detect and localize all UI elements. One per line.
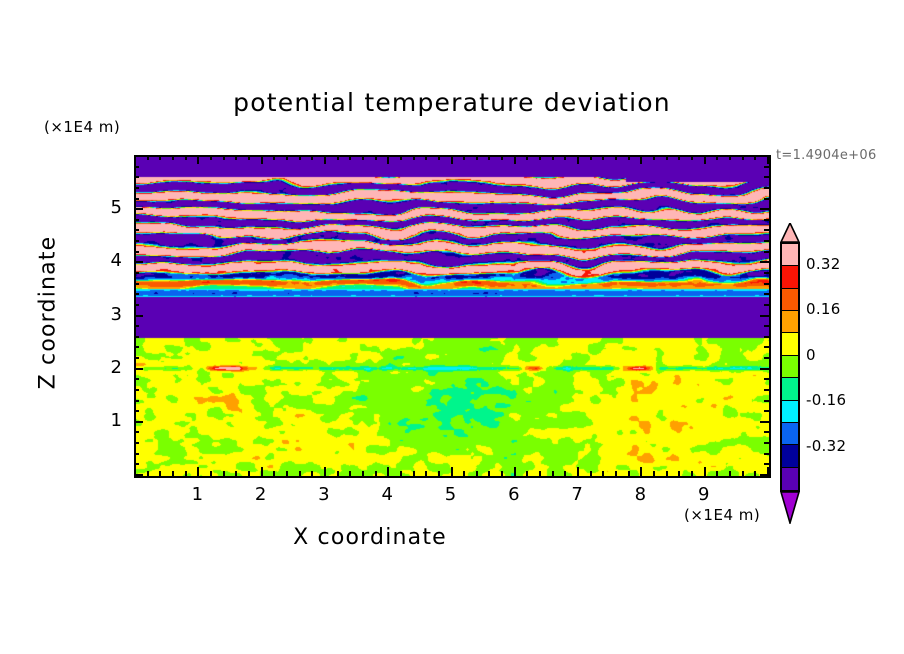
- y-tick-label: 4: [88, 250, 122, 271]
- x-axis-unit-label: (×1E4 m): [684, 506, 760, 524]
- y-tick-label: 1: [88, 410, 122, 431]
- page-title: potential temperature deviation: [0, 88, 904, 117]
- colorbar-band: [782, 468, 798, 490]
- x-tick-label: 3: [304, 484, 344, 505]
- x-tick-label: 8: [620, 484, 660, 505]
- colorbar-label: 0.32: [806, 255, 841, 273]
- colorbar-label: -0.16: [806, 391, 846, 409]
- colorbar-band: [782, 289, 798, 311]
- contour-field: [136, 157, 769, 476]
- time-annotation: t=1.4904e+06: [776, 148, 877, 163]
- colorbar-band: [782, 378, 798, 400]
- x-axis-title: X coordinate: [0, 525, 740, 550]
- contour-plot-area: [134, 155, 771, 478]
- colorbar-band: [782, 445, 798, 467]
- colorbar-band: [782, 356, 798, 378]
- y-axis-unit-label: (×1E4 m): [44, 118, 120, 136]
- x-tick-label: 7: [557, 484, 597, 505]
- colorbar-label: -0.32: [806, 437, 846, 455]
- x-tick-label: 4: [367, 484, 407, 505]
- x-tick-label: 5: [431, 484, 471, 505]
- colorbar-label: 0: [806, 346, 816, 364]
- x-tick-label: 1: [177, 484, 217, 505]
- y-axis-title: Z coordinate: [36, 183, 61, 443]
- colorbar-band: [782, 333, 798, 355]
- y-tick-label: 3: [88, 304, 122, 325]
- x-tick-label: 9: [684, 484, 724, 505]
- x-tick-label: 6: [494, 484, 534, 505]
- colorbar-band: [782, 423, 798, 445]
- y-tick-label: 5: [88, 197, 122, 218]
- colorbar-band: [782, 401, 798, 423]
- y-tick-label: 2: [88, 357, 122, 378]
- colorbar-label: 0.16: [806, 300, 841, 318]
- colorbar-band: [782, 311, 798, 333]
- x-tick-label: 2: [241, 484, 281, 505]
- colorbar: [780, 242, 800, 492]
- colorbar-bottom-arrow: [780, 492, 800, 524]
- colorbar-band: [782, 266, 798, 288]
- colorbar-band: [782, 244, 798, 266]
- colorbar-top-arrow: [780, 223, 800, 243]
